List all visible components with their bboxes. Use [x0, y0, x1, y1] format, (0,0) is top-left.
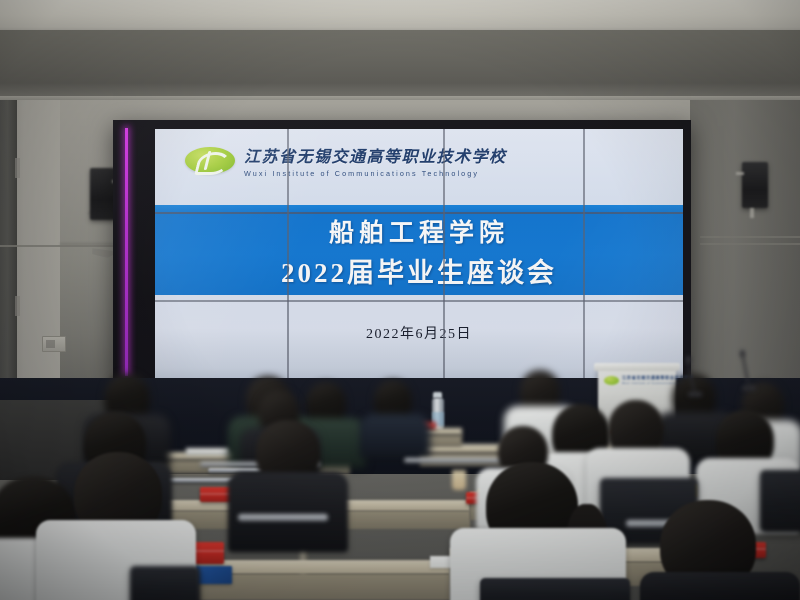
- chair-backrest: [480, 578, 630, 600]
- led-accent-strip: [125, 128, 128, 376]
- slide-logo-row: 江苏省无锡交通高等职业技术学校 Wuxi Institute of Commun…: [185, 143, 507, 178]
- school-emblem-icon: [185, 147, 235, 174]
- ceiling-beam: [0, 30, 800, 98]
- school-name-cn: 江苏省无锡交通高等职业技术学校: [244, 143, 507, 167]
- panel-seam-vertical-3: [583, 129, 585, 378]
- bottle-cap: [433, 392, 442, 398]
- panel-seam-horizontal-1: [155, 212, 683, 214]
- paper-sheet: [186, 448, 230, 455]
- speaker-stand-right: [750, 208, 754, 218]
- cable-rail-right: [700, 236, 800, 238]
- school-name-en: Wuxi Institute of Communications Technol…: [244, 169, 507, 178]
- chair-armrest: [238, 514, 328, 521]
- slide-title-line-1: 船舶工程学院: [155, 213, 683, 249]
- slide-title-line-2: 2022届毕业生座谈会: [155, 251, 683, 290]
- panel-seam-vertical-1: [287, 129, 289, 378]
- panel-seam-vertical-2: [443, 129, 445, 378]
- lectern-top-surface: [594, 363, 680, 371]
- cable-rail-right-2: [700, 243, 800, 245]
- panel-seam-horizontal-2: [155, 300, 683, 302]
- cable-rail-left-2: [60, 243, 120, 245]
- microphone-head: [740, 350, 745, 357]
- chair-backrest: [760, 470, 800, 532]
- wall-speaker-right: [742, 162, 768, 208]
- cable-rail-left: [0, 245, 120, 247]
- microphone-head: [686, 356, 691, 363]
- video-wall-screen[interactable]: 江苏省无锡交通高等职业技术学校 Wuxi Institute of Commun…: [155, 129, 683, 378]
- light-switch-plate[interactable]: [42, 336, 66, 352]
- classroom-photo-scene: 江苏省无锡交通高等职业技术学校 Wuxi Institute of Commun…: [0, 0, 800, 600]
- speaker-bracket-right: [736, 172, 744, 175]
- chair-backrest: [130, 566, 200, 600]
- lectern-school-emblem-icon: [604, 376, 619, 385]
- drink-cup: [452, 470, 466, 490]
- slide-date: 2022年6月25日: [155, 323, 683, 343]
